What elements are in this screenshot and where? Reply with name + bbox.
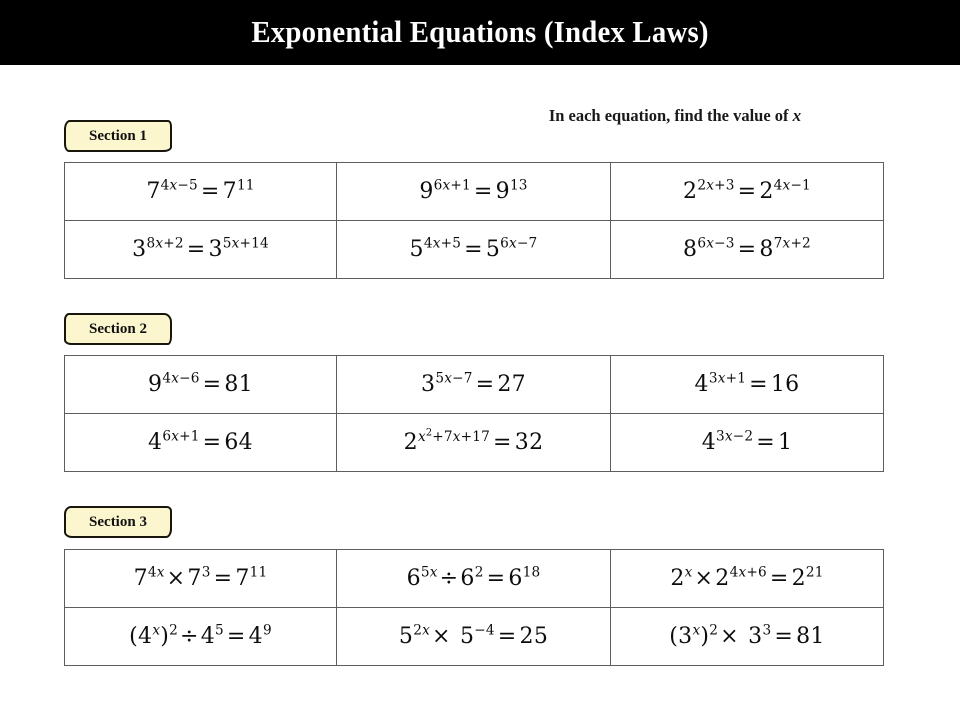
equation-cell[interactable]: 86x−3=87x+2 [611,221,884,279]
equation-cell[interactable]: 65x÷62=618 [337,550,611,608]
equation-q2b: 35x−7=27 [421,372,526,397]
instruction-label: In each equation, find the value of [549,106,793,125]
equation-cell[interactable]: (3x)2× 33=81 [611,608,884,666]
instruction-variable: x [793,106,802,125]
equation-q3a: 74x×73=711 [134,566,268,591]
equations-table-section-3: 74x×73=711 65x÷62=618 2x×24x+6=221 (4x)2… [64,549,884,666]
table-row: 94x−6=81 35x−7=27 43x+1=16 [65,356,884,414]
instruction-text: In each equation, find the value of x [465,106,885,126]
section-label-2: Section 2 [64,313,172,345]
equation-cell[interactable]: 74x×73=711 [65,550,337,608]
section-label-1: Section 1 [64,120,172,152]
equation-q2f: 43x−2=1 [702,430,793,455]
equation-q2d: 46x+1=64 [148,430,253,455]
equation-q2c: 43x+1=16 [695,372,800,397]
table-row: 38x+2=35x+14 54x+5=56x−7 86x−3=87x+2 [65,221,884,279]
equation-cell[interactable]: 96x+1=913 [337,163,611,221]
title-banner: Exponential Equations (Index Laws) [0,0,960,65]
equation-cell[interactable]: 35x−7=27 [337,356,611,414]
equation-cell[interactable]: 43x+1=16 [611,356,884,414]
equation-q3f: (3x)2× 33=81 [669,624,824,649]
page-title: Exponential Equations (Index Laws) [34,0,927,65]
equation-cell[interactable]: 38x+2=35x+14 [65,221,337,279]
equation-cell[interactable]: 46x+1=64 [65,414,337,472]
equation-cell[interactable]: (4x)2÷45=49 [65,608,337,666]
equations-table-section-1: 74x−5=711 96x+1=913 22x+3=24x−1 38x+2=35… [64,162,884,279]
equation-q2a: 94x−6=81 [148,372,253,397]
equation-cell[interactable]: 22x+3=24x−1 [611,163,884,221]
equation-q3b: 65x÷62=618 [407,566,541,591]
equation-cell[interactable]: 2x2+7x+17=32 [337,414,611,472]
table-row: 46x+1=64 2x2+7x+17=32 43x−2=1 [65,414,884,472]
equation-q2e: 2x2+7x+17=32 [404,430,544,455]
equation-cell[interactable]: 94x−6=81 [65,356,337,414]
table-row: 74x×73=711 65x÷62=618 2x×24x+6=221 [65,550,884,608]
equation-cell[interactable]: 52x× 5−4=25 [337,608,611,666]
equation-q1d: 38x+2=35x+14 [132,237,269,262]
equation-cell[interactable]: 2x×24x+6=221 [611,550,884,608]
equation-cell[interactable]: 54x+5=56x−7 [337,221,611,279]
table-row: (4x)2÷45=49 52x× 5−4=25 (3x)2× 33=81 [65,608,884,666]
equation-q1c: 22x+3=24x−1 [683,179,811,204]
equations-table-section-2: 94x−6=81 35x−7=27 43x+1=16 46x+1=64 2x2+… [64,355,884,472]
equation-q3e: 52x× 5−4=25 [399,624,548,649]
equation-q1a: 74x−5=711 [146,179,254,204]
equation-q1f: 86x−3=87x+2 [683,237,811,262]
equation-q1e: 54x+5=56x−7 [410,237,538,262]
equation-cell[interactable]: 74x−5=711 [65,163,337,221]
table-row: 74x−5=711 96x+1=913 22x+3=24x−1 [65,163,884,221]
equation-q3d: (4x)2÷45=49 [129,624,272,649]
equation-q1b: 96x+1=913 [419,179,527,204]
section-label-3: Section 3 [64,506,172,538]
equation-cell[interactable]: 43x−2=1 [611,414,884,472]
equation-q3c: 2x×24x+6=221 [670,566,823,591]
